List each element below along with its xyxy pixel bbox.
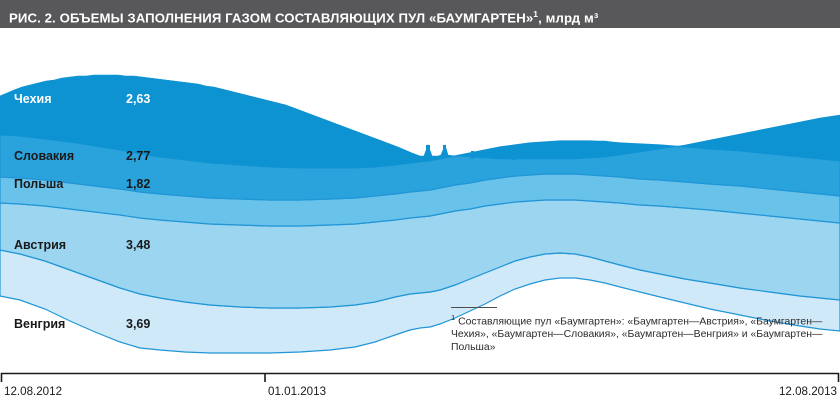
axis-tick-label-mid: 01.01.2013: [268, 385, 326, 398]
axis-tick-label-end: 12.08.2013: [779, 385, 837, 398]
figure-container: РИС. 2. ОБЪЕМЫ ЗАПОЛНЕНИЯ ГАЗОМ СОСТАВЛЯ…: [0, 0, 840, 403]
page-title: РИС. 2. ОБЪЕМЫ ЗАПОЛНЕНИЯ ГАЗОМ СОСТАВЛЯ…: [9, 0, 598, 28]
axis-baseline: [2, 374, 839, 383]
footnote-text: 1 Составляющие пул «Баумгартен»: «Баумга…: [451, 312, 831, 354]
footnote-body: Составляющие пул «Баумгартен»: «Баумгарт…: [451, 316, 822, 352]
footnote-divider: [451, 307, 497, 308]
x-axis: 12.08.2012 01.01.2013 12.08.2013: [0, 372, 840, 403]
area-spike-detail: [426, 145, 446, 156]
axis-tick-label-start: 12.08.2012: [4, 385, 62, 398]
axis-line-svg: [0, 372, 840, 384]
figure-header-bar: РИС. 2. ОБЪЕМЫ ЗАПОЛНЕНИЯ ГАЗОМ СОСТАВЛЯ…: [0, 0, 840, 28]
footnote-block: 1 Составляющие пул «Баумгартен»: «Баумга…: [451, 307, 831, 354]
title-unit-text: , млрд м³: [538, 10, 598, 25]
footnote-marker: 1: [451, 313, 455, 322]
title-main-text: РИС. 2. ОБЪЕМЫ ЗАПОЛНЕНИЯ ГАЗОМ СОСТАВЛЯ…: [9, 10, 533, 25]
